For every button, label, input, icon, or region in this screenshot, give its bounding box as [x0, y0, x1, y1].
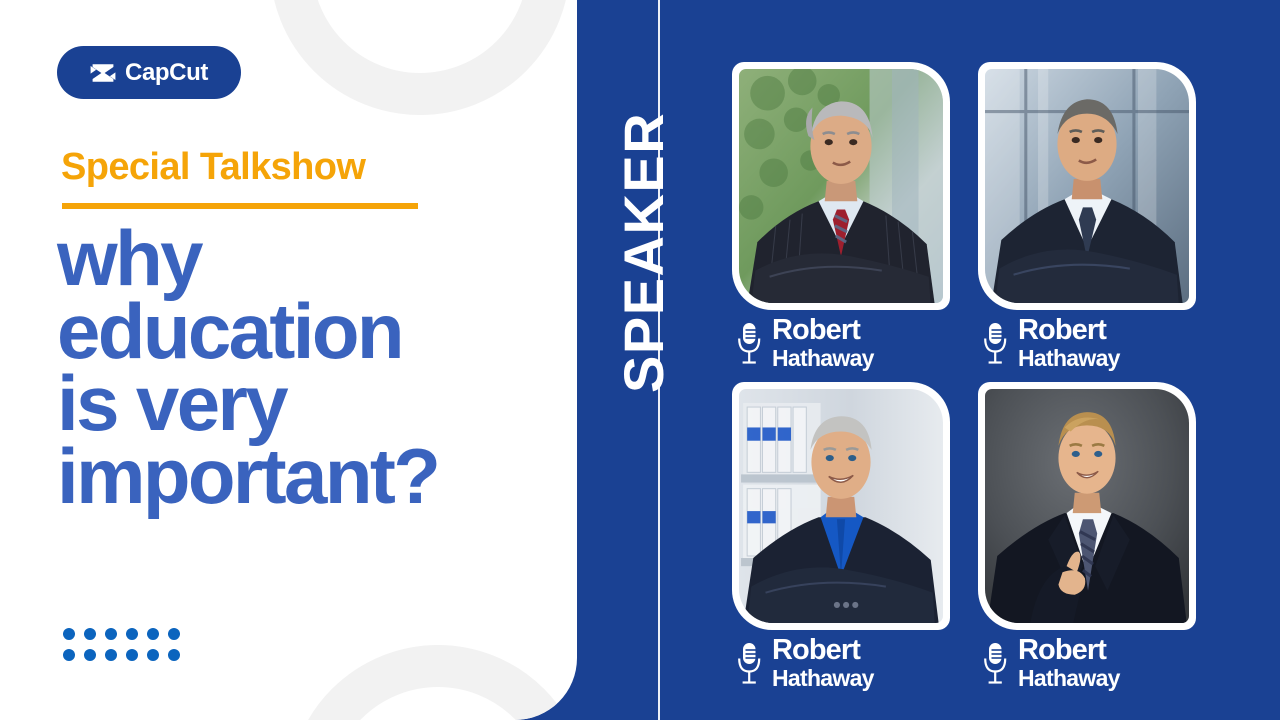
page-title: why education is very important? — [57, 222, 557, 512]
speaker-card[interactable]: RobertHathaway — [978, 62, 1196, 310]
speaker-section-label: SPEAKER — [616, 113, 672, 393]
speaker-photo-frame — [732, 62, 950, 310]
grid-dot — [84, 649, 96, 661]
speaker-last-name: Hathaway — [772, 347, 874, 370]
grid-dot — [105, 649, 117, 661]
speaker-card[interactable]: RobertHathaway — [732, 382, 950, 630]
speaker-name-row: RobertHathaway — [736, 636, 976, 690]
eyebrow-underline — [62, 203, 418, 209]
speaker-last-name: Hathaway — [1018, 347, 1120, 370]
speaker-name-row: RobertHathaway — [736, 316, 976, 370]
speaker-card[interactable]: RobertHathaway — [978, 382, 1196, 630]
headline-line-1: why — [57, 222, 557, 295]
decorative-ring-top — [270, 0, 570, 115]
poster-canvas: CapCut Special Talkshow why education is… — [0, 0, 1280, 720]
speaker-photo-frame — [732, 382, 950, 630]
speaker-card[interactable]: RobertHathaway — [732, 62, 950, 310]
grid-dot — [84, 628, 96, 640]
speaker-first-name: Robert — [1018, 636, 1120, 665]
grid-dot — [168, 628, 180, 640]
speaker-first-name: Robert — [772, 316, 874, 345]
grid-dot — [147, 628, 159, 640]
capcut-hourglass-icon — [90, 63, 116, 83]
capcut-wordmark: CapCut — [125, 61, 208, 85]
speaker-portrait — [985, 69, 1189, 303]
microphone-icon — [736, 641, 762, 685]
speaker-portrait — [985, 389, 1189, 623]
microphone-icon — [982, 641, 1008, 685]
speaker-name-row: RobertHathaway — [982, 316, 1222, 370]
speaker-name-block: RobertHathaway — [1018, 316, 1120, 370]
speaker-first-name: Robert — [772, 636, 874, 665]
grid-dot — [63, 649, 75, 661]
eyebrow-text: Special Talkshow — [61, 148, 365, 188]
grid-dot — [168, 649, 180, 661]
grid-dot — [63, 628, 75, 640]
speaker-name-block: RobertHathaway — [772, 636, 874, 690]
speaker-first-name: Robert — [1018, 316, 1120, 345]
speaker-name-row: RobertHathaway — [982, 636, 1222, 690]
speaker-portrait — [739, 389, 943, 623]
speaker-last-name: Hathaway — [772, 667, 874, 690]
speaker-photo-frame — [978, 382, 1196, 630]
speaker-photo-frame — [978, 62, 1196, 310]
speaker-section-rail: SPEAKER — [614, 0, 674, 720]
speaker-last-name: Hathaway — [1018, 667, 1120, 690]
headline-line-4: important? — [57, 440, 557, 513]
capcut-brand-badge[interactable]: CapCut — [57, 46, 241, 99]
speaker-card-grid: RobertHathaway — [732, 62, 1212, 682]
headline-line-3: is very — [57, 367, 557, 440]
microphone-icon — [736, 321, 762, 365]
decorative-dot-grid — [63, 628, 184, 665]
microphone-icon — [982, 321, 1008, 365]
speaker-portrait — [739, 69, 943, 303]
grid-dot — [126, 649, 138, 661]
speaker-name-block: RobertHathaway — [772, 316, 874, 370]
speaker-name-block: RobertHathaway — [1018, 636, 1120, 690]
grid-dot — [105, 628, 117, 640]
grid-dot — [147, 649, 159, 661]
headline-line-2: education — [57, 295, 557, 368]
decorative-ring-bottom — [288, 645, 577, 720]
grid-dot — [126, 628, 138, 640]
